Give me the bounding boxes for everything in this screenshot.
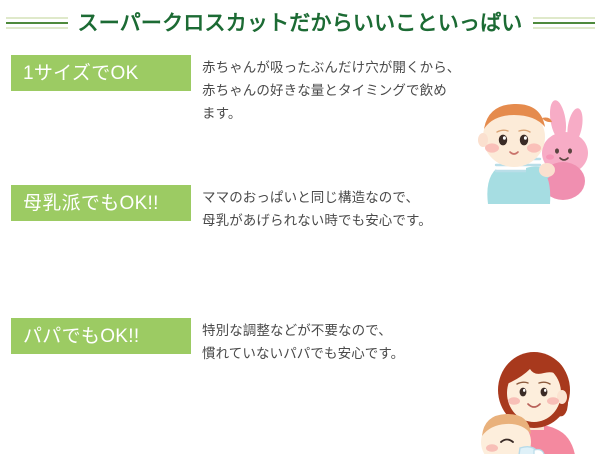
feature-badge-label-3: パパでもOK!!: [23, 327, 139, 346]
rule-left-icon: [6, 17, 68, 30]
feature-badge-label-1: 1サイズでOK: [23, 64, 139, 83]
feature-row-1: 1サイズでOK 赤ちゃんが吸ったぶんだけ穴が開くから、 赤ちゃんの好きな量とタイ…: [0, 52, 600, 170]
header: スーパークロスカットだからいいこといっぱい: [0, 0, 600, 46]
feature-badge-label-2: 母乳派でもOK!!: [23, 194, 159, 213]
feature-row-2: 母乳派でもOK!! ママのおっぱいと同じ構造なので、 母乳があげられない時でも安…: [0, 182, 600, 307]
feature-description-2: ママのおっぱいと同じ構造なので、 母乳があげられない時でも安心です。: [202, 186, 470, 232]
feature-row-3: パパでもOK!! 特別な調整などが不要なので、 慣れていないパパでも安心です。: [0, 315, 600, 454]
page-title: スーパークロスカットだからいいこといっぱい: [68, 13, 533, 34]
feature-description-3: 特別な調整などが不要なので、 慣れていないパパでも安心です。: [202, 319, 470, 365]
feature-description-1: 赤ちゃんが吸ったぶんだけ穴が開くから、 赤ちゃんの好きな量とタイミングで飲め ま…: [202, 56, 470, 126]
feature-badge-2: 母乳派でもOK!!: [11, 185, 191, 221]
promo-panel: スーパークロスカットだからいいこといっぱい 1サイズでOK 赤ちゃんが吸ったぶん…: [0, 0, 600, 454]
rule-right-icon: [533, 17, 595, 30]
feature-badge-3: パパでもOK!!: [11, 318, 191, 354]
feature-badge-1: 1サイズでOK: [11, 55, 191, 91]
